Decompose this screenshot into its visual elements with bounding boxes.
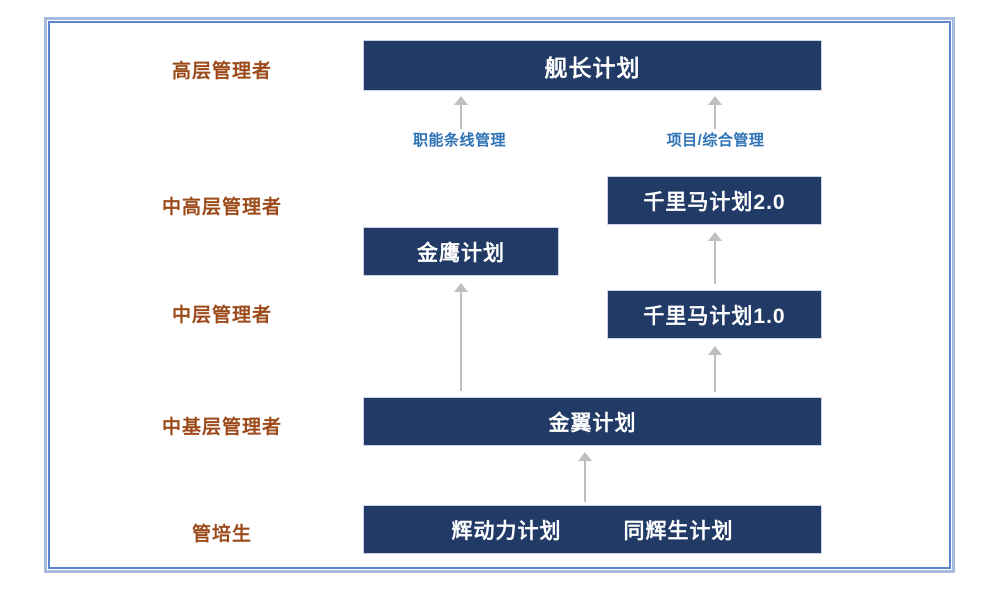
program-box-trainee-row[interactable]: 辉动力计划 同辉生计划 [363,505,822,554]
program-box-golden-eagle[interactable]: 金鹰计划 [363,227,559,276]
arrow-qianlima10-to-qianlima20-icon [708,232,722,284]
tier-label-senior: 高层管理者 [102,56,342,83]
tier-label-middle: 中层管理者 [102,300,342,327]
arrow-caption-functional-line: 职能条线管理 [388,129,531,150]
program-box-qianlima-20[interactable]: 千里马计划2.0 [607,176,822,225]
arrow-golden-wing-to-golden-eagle-icon [454,283,468,391]
program-label-golden-wing: 金翼计划 [549,407,637,437]
tier-label-lower-middle: 中基层管理者 [102,412,342,439]
program-box-golden-wing[interactable]: 金翼计划 [363,397,822,446]
diagram-canvas: 高层管理者 中高层管理者 中层管理者 中基层管理者 管培生 舰长计划 千里马计划… [0,0,1000,593]
tier-label-upper-middle: 中高层管理者 [102,192,342,219]
arrow-trainee-to-golden-wing-icon [578,452,592,502]
program-box-captain[interactable]: 舰长计划 [363,40,822,91]
program-label-golden-eagle: 金鹰计划 [417,237,505,267]
arrow-golden-wing-to-qianlima10-icon [708,346,722,392]
program-label-qianlima-10: 千里马计划1.0 [643,300,785,330]
arrow-caption-project-general: 项目/综合管理 [644,129,787,150]
program-label-tonghuisheng: 同辉生计划 [624,515,734,545]
program-box-qianlima-10[interactable]: 千里马计划1.0 [607,290,822,339]
tier-label-trainee: 管培生 [102,519,342,546]
program-label-huidongli: 辉动力计划 [452,515,562,545]
program-label-qianlima-20: 千里马计划2.0 [643,186,785,216]
program-label-captain: 舰长计划 [545,49,641,83]
